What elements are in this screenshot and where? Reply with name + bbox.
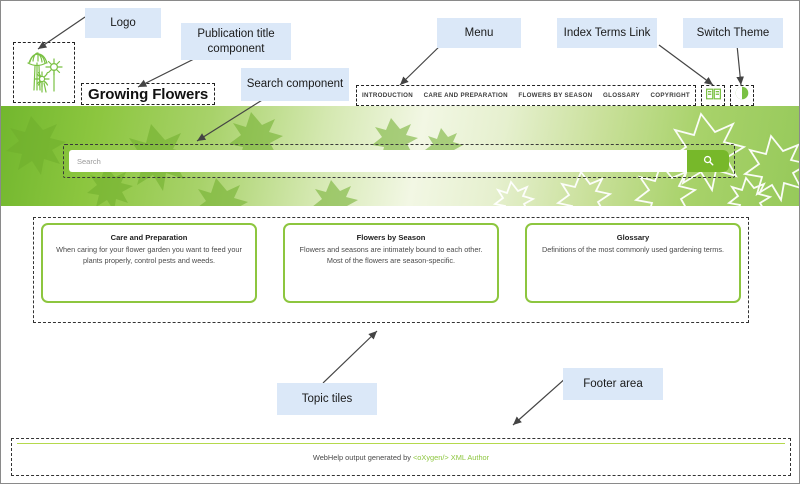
webhelp-page: Growing Flowers INTRODUCTION CARE AND PR…: [0, 0, 800, 484]
tile-description: Flowers and seasons are intimately bound…: [295, 245, 487, 267]
callout-footer-area: Footer area: [563, 368, 663, 400]
callout-search: Search component: [241, 68, 349, 101]
callout-switch-theme: Switch Theme: [683, 18, 783, 48]
main-menu: INTRODUCTION CARE AND PREPARATION FLOWER…: [356, 85, 696, 106]
hero-banner: [1, 106, 800, 206]
search-submit-button[interactable]: [687, 150, 729, 172]
callout-topic-tiles: Topic tiles: [277, 383, 377, 415]
topic-tile-glossary[interactable]: Glossary Definitions of the most commonl…: [525, 223, 741, 303]
page-title: Growing Flowers: [88, 86, 208, 103]
topic-tile-flowers-by-season[interactable]: Flowers by Season Flowers and seasons ar…: [283, 223, 499, 303]
menu-item-glossary[interactable]: GLOSSARY: [603, 92, 640, 99]
callout-menu: Menu: [437, 18, 521, 48]
site-footer: WebHelp output generated by <oXygen/> XM…: [17, 443, 785, 471]
callout-index-terms: Index Terms Link: [557, 18, 657, 48]
callout-logo: Logo: [85, 8, 161, 38]
publication-title-component[interactable]: Growing Flowers: [81, 83, 215, 105]
flowers-logo-icon[interactable]: [21, 46, 67, 99]
index-terms-link[interactable]: [701, 85, 725, 106]
tile-title: Flowers by Season: [295, 233, 487, 242]
callout-publication-title: Publication title component: [181, 23, 291, 60]
switch-theme-button[interactable]: [730, 85, 754, 106]
search-input[interactable]: [69, 150, 687, 172]
menu-item-care-and-preparation[interactable]: CARE AND PREPARATION: [424, 92, 508, 99]
contrast-circle-icon: [735, 86, 749, 105]
oxygen-xml-author-link[interactable]: <oXygen/> XML Author: [413, 453, 489, 462]
search-component: [69, 150, 729, 172]
logo-annotation-box: [13, 42, 75, 103]
magnifier-icon: [703, 154, 714, 169]
menu-item-copyright[interactable]: COPYRIGHT: [651, 92, 690, 99]
menu-item-introduction[interactable]: INTRODUCTION: [362, 92, 413, 99]
tile-title: Care and Preparation: [53, 233, 245, 242]
topic-tiles-container: Care and Preparation When caring for you…: [33, 217, 749, 323]
tile-description: Definitions of the most commonly used ga…: [537, 245, 729, 256]
menu-item-flowers-by-season[interactable]: FLOWERS BY SEASON: [518, 92, 592, 99]
footer-text-prefix: WebHelp output generated by: [313, 453, 413, 462]
tile-title: Glossary: [537, 233, 729, 242]
tile-description: When caring for your flower garden you w…: [53, 245, 245, 267]
footer-text: WebHelp output generated by <oXygen/> XM…: [313, 453, 489, 462]
topic-tile-care-and-preparation[interactable]: Care and Preparation When caring for you…: [41, 223, 257, 303]
open-book-icon: [706, 87, 721, 105]
